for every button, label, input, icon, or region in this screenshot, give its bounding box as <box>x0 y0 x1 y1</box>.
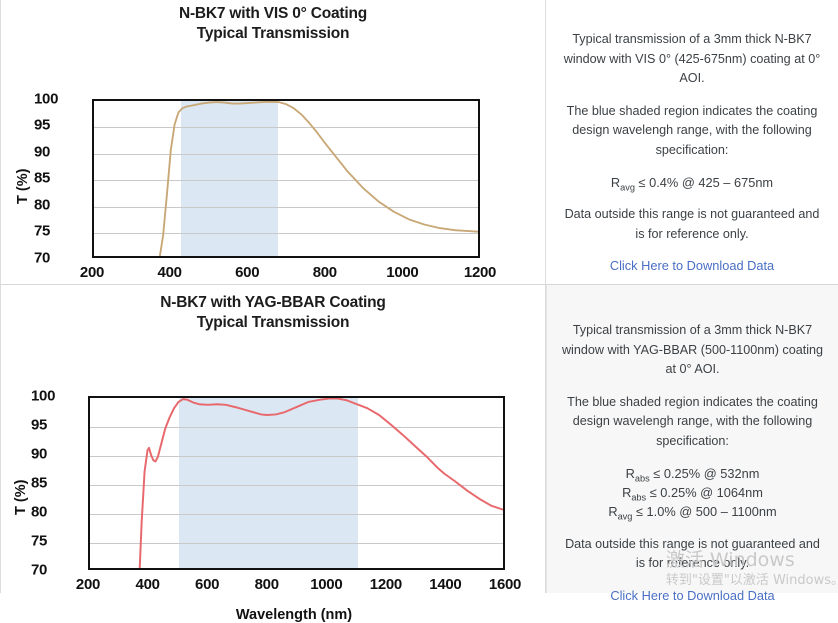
transmission-row-yag: N-BK7 with YAG-BBAR Coating Typical Tran… <box>1 285 838 593</box>
y-tick-85: 85 <box>31 474 79 491</box>
description-disclaimer-yag: Data outside this range is not guarantee… <box>561 535 824 574</box>
spec-item: Ravg ≤ 0.4% @ 425 – 675nm <box>611 173 773 192</box>
spec-symbol: R <box>611 175 620 190</box>
download-data-link-vis[interactable]: Click Here to Download Data <box>610 258 774 273</box>
description-band-note-yag: The blue shaded region indicates the coa… <box>561 393 824 452</box>
spec-value: ≤ 0.25% @ 532nm <box>650 466 760 481</box>
spec-list-vis: Ravg ≤ 0.4% @ 425 – 675nm <box>611 173 773 192</box>
spec-item: Rabs ≤ 0.25% @ 532nm <box>608 464 776 483</box>
y-tick-85: 85 <box>34 170 82 187</box>
description-panel-vis: Typical transmission of a 3mm thick N-BK… <box>546 0 838 284</box>
y-axis-label-yag: T (%) <box>13 479 29 514</box>
spec-item: Rabs ≤ 0.25% @ 1064nm <box>608 483 776 502</box>
spec-subscript: abs <box>635 474 650 484</box>
spec-value: ≤ 1.0% @ 500 – 1100nm <box>632 504 776 519</box>
plot-area-yag <box>88 396 505 570</box>
description-intro-yag: Typical transmission of a 3mm thick N-BK… <box>561 321 824 380</box>
transmission-curve-vis <box>94 101 478 256</box>
x-axis-label-yag: Wavelength (nm) <box>236 607 352 623</box>
chart-title-line1: N-BK7 with YAG-BBAR Coating <box>160 294 385 311</box>
spec-subscript: avg <box>620 183 635 193</box>
y-tick-75: 75 <box>31 532 79 549</box>
x-tick-1000: 1000 <box>310 576 342 593</box>
spec-value: ≤ 0.25% @ 1064nm <box>646 485 763 500</box>
x-tick-200: 200 <box>80 264 104 281</box>
chart-title-line2: Typical Transmission <box>197 25 350 42</box>
chart-title-line1: N-BK7 with VIS 0° Coating <box>179 5 367 22</box>
chart-panel-yag: N-BK7 with YAG-BBAR Coating Typical Tran… <box>1 285 546 593</box>
y-tick-90: 90 <box>34 143 82 160</box>
spec-symbol: R <box>608 504 617 519</box>
spec-list-yag: Rabs ≤ 0.25% @ 532nm Rabs ≤ 0.25% @ 1064… <box>608 464 776 522</box>
y-tick-90: 90 <box>31 445 79 462</box>
x-tick-600: 600 <box>235 264 259 281</box>
x-tick-1000: 1000 <box>386 264 418 281</box>
x-tick-1200: 1200 <box>464 264 496 281</box>
chart-panel-vis: N-BK7 with VIS 0° Coating Typical Transm… <box>1 0 546 284</box>
spec-item: Ravg ≤ 1.0% @ 500 – 1100nm <box>608 502 776 521</box>
y-tick-70: 70 <box>34 249 82 266</box>
y-tick-100: 100 <box>31 387 79 404</box>
chart-title-line2: Typical Transmission <box>197 314 350 331</box>
chart-title-vis: N-BK7 with VIS 0° Coating Typical Transm… <box>1 0 545 44</box>
x-tick-1600: 1600 <box>489 576 521 593</box>
transmission-row-vis: N-BK7 with VIS 0° Coating Typical Transm… <box>1 0 838 284</box>
y-tick-95: 95 <box>34 117 82 134</box>
x-tick-200: 200 <box>76 576 100 593</box>
x-tick-400: 400 <box>158 264 182 281</box>
y-tick-75: 75 <box>34 223 82 240</box>
y-tick-70: 70 <box>31 561 79 578</box>
page-root: N-BK7 with VIS 0° Coating Typical Transm… <box>0 0 838 593</box>
description-disclaimer-vis: Data outside this range is not guarantee… <box>560 205 824 244</box>
spec-subscript: avg <box>618 512 633 522</box>
x-tick-1400: 1400 <box>429 576 461 593</box>
x-tick-800: 800 <box>313 264 337 281</box>
y-axis-label-vis: T (%) <box>15 168 31 203</box>
spec-symbol: R <box>626 466 635 481</box>
download-data-link-yag[interactable]: Click Here to Download Data <box>610 588 774 603</box>
chart-title-yag: N-BK7 with YAG-BBAR Coating Typical Tran… <box>1 285 545 333</box>
y-tick-100: 100 <box>34 90 82 107</box>
spec-symbol: R <box>622 485 631 500</box>
description-intro-vis: Typical transmission of a 3mm thick N-BK… <box>560 30 824 89</box>
x-tick-400: 400 <box>136 576 160 593</box>
description-band-note-vis: The blue shaded region indicates the coa… <box>560 102 824 161</box>
x-tick-1200: 1200 <box>370 576 402 593</box>
x-tick-800: 800 <box>255 576 279 593</box>
spec-value: ≤ 0.4% @ 425 – 675nm <box>635 175 773 190</box>
y-tick-80: 80 <box>34 196 82 213</box>
transmission-curve-yag <box>90 398 503 568</box>
y-tick-80: 80 <box>31 503 79 520</box>
watermark-line-2: 转到"设置"以激活 Windows。 <box>666 573 838 589</box>
x-tick-600: 600 <box>195 576 219 593</box>
spec-subscript: abs <box>631 493 646 503</box>
y-tick-95: 95 <box>31 416 79 433</box>
description-panel-yag: Typical transmission of a 3mm thick N-BK… <box>546 285 838 593</box>
plot-area-vis <box>92 99 480 258</box>
